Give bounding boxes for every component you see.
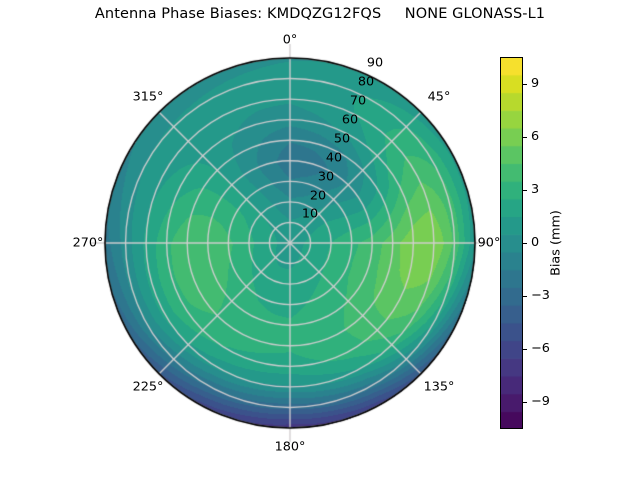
radial-tick-70: 70: [350, 94, 366, 109]
colorbar-gradient: [500, 57, 523, 429]
colorbar-tick-mark: [523, 190, 527, 191]
angular-tick-90: 90°: [478, 236, 501, 251]
colorbar-tick-label: 0: [531, 235, 539, 250]
colorbar-tick-label: 9: [531, 76, 539, 91]
radial-tick-60: 60: [342, 113, 358, 128]
colorbar-tick-mark: [523, 137, 527, 138]
colorbar-tick-label: −3: [531, 288, 550, 303]
colorbar: [500, 57, 523, 429]
angular-tick-180: 180°: [275, 440, 306, 455]
colorbar-tick-mark: [523, 243, 527, 244]
radial-tick-10: 10: [302, 207, 318, 222]
radial-tick-30: 30: [318, 170, 334, 185]
colorbar-tick-label: −6: [531, 341, 550, 356]
radial-tick-90: 90: [367, 56, 383, 71]
colorbar-tick-label: −9: [531, 394, 550, 409]
radial-tick-40: 40: [326, 151, 342, 166]
colorbar-tick-mark: [523, 402, 527, 403]
angular-tick-315: 315°: [133, 90, 164, 105]
colorbar-tick-label: 6: [531, 129, 539, 144]
figure-canvas: Antenna Phase Biases: KMDQZG12FQS NONE G…: [0, 0, 640, 480]
angular-tick-225: 225°: [133, 380, 164, 395]
radial-tick-50: 50: [334, 132, 350, 147]
colorbar-axis-label: Bias (mm): [549, 210, 564, 276]
colorbar-tick-mark: [523, 296, 527, 297]
angular-tick-270: 270°: [73, 236, 104, 251]
radial-tick-80: 80: [358, 75, 374, 90]
colorbar-tick-mark: [523, 84, 527, 85]
angular-tick-45: 45°: [428, 90, 451, 105]
radial-tick-20: 20: [310, 189, 326, 204]
angular-tick-0: 0°: [283, 33, 298, 48]
angular-tick-135: 135°: [424, 380, 455, 395]
colorbar-tick-label: 3: [531, 182, 539, 197]
colorbar-tick-mark: [523, 349, 527, 350]
